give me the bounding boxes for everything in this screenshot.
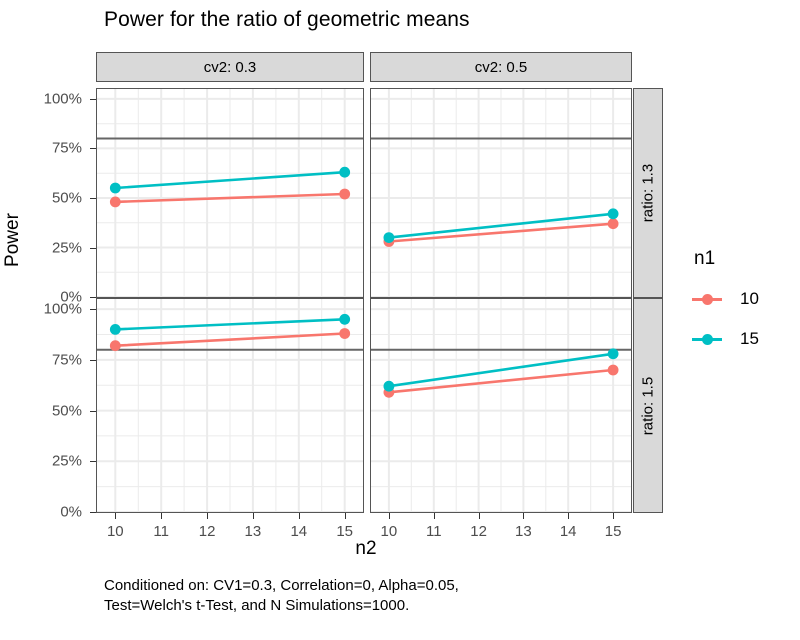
y-tick-label: 100% — [26, 90, 82, 107]
y-tick-label: 25% — [26, 239, 82, 256]
chart-figure: Power for the ratio of geometric means P… — [0, 0, 800, 640]
legend-item-label: 15 — [740, 329, 759, 349]
x-tick-label: 11 — [146, 523, 176, 540]
legend-item-15[interactable]: 15 — [692, 324, 759, 354]
x-tick-mark — [389, 513, 390, 519]
y-tick-mark — [90, 297, 96, 298]
facet-strip-col-label: cv2: 0.3 — [204, 59, 257, 76]
x-tick-label: 14 — [553, 523, 583, 540]
legend-item-label: 10 — [740, 289, 759, 309]
x-tick-mark — [479, 513, 480, 519]
y-axis-title: Power — [2, 190, 24, 290]
facet-strip-col-label: cv2: 0.5 — [475, 59, 528, 76]
panel-ratio-1-5-cv2-0-5 — [370, 298, 632, 513]
x-tick-label: 12 — [192, 523, 222, 540]
chart-title: Power for the ratio of geometric means — [104, 8, 470, 32]
x-tick-label: 15 — [598, 523, 628, 540]
y-tick-label: 50% — [26, 402, 82, 419]
x-tick-mark — [345, 513, 346, 519]
x-tick-label: 13 — [508, 523, 538, 540]
facet-strip-col-cv2-0-5: cv2: 0.5 — [370, 52, 632, 82]
x-tick-label: 10 — [100, 523, 130, 540]
panel-ratio-1-5-cv2-0-3 — [96, 298, 364, 513]
y-tick-mark — [90, 198, 96, 199]
x-tick-label: 15 — [330, 523, 360, 540]
x-tick-mark — [613, 513, 614, 519]
legend-item-10[interactable]: 10 — [692, 284, 759, 314]
facet-strip-col-cv2-0-3: cv2: 0.3 — [96, 52, 364, 82]
legend: n1 10 15 — [692, 248, 759, 364]
y-tick-mark — [90, 309, 96, 310]
x-tick-mark — [568, 513, 569, 519]
y-tick-label: 75% — [26, 140, 82, 157]
legend-key-icon — [692, 284, 722, 314]
panel-ratio-1-3-cv2-0-5 — [370, 88, 632, 298]
x-tick-mark — [115, 513, 116, 519]
x-tick-label: 12 — [464, 523, 494, 540]
facet-strip-row-label: ratio: 1.5 — [640, 376, 657, 434]
x-tick-mark — [299, 513, 300, 519]
x-tick-label: 13 — [238, 523, 268, 540]
y-tick-mark — [90, 411, 96, 412]
facet-strip-row-ratio-1-3: ratio: 1.3 — [633, 88, 663, 298]
y-tick-label: 25% — [26, 453, 82, 470]
y-tick-mark — [90, 148, 96, 149]
y-tick-label: 50% — [26, 190, 82, 207]
x-tick-label: 14 — [284, 523, 314, 540]
y-tick-mark — [90, 248, 96, 249]
y-tick-mark — [90, 99, 96, 100]
x-tick-mark — [161, 513, 162, 519]
x-tick-mark — [523, 513, 524, 519]
x-tick-mark — [253, 513, 254, 519]
x-tick-mark — [207, 513, 208, 519]
y-tick-mark — [90, 360, 96, 361]
y-tick-label: 100% — [26, 301, 82, 318]
facet-strip-row-label: ratio: 1.3 — [640, 164, 657, 222]
y-tick-label: 0% — [26, 504, 82, 521]
chart-caption: Conditioned on: CV1=0.3, Correlation=0, … — [104, 576, 459, 616]
x-tick-mark — [434, 513, 435, 519]
panel-ratio-1-3-cv2-0-3 — [96, 88, 364, 298]
x-axis-title: n2 — [96, 538, 636, 560]
facet-strip-row-ratio-1-5: ratio: 1.5 — [633, 298, 663, 513]
legend-key-icon — [692, 324, 722, 354]
x-tick-label: 11 — [419, 523, 449, 540]
y-tick-mark — [90, 512, 96, 513]
legend-title: n1 — [692, 248, 759, 270]
y-tick-label: 75% — [26, 351, 82, 368]
x-tick-label: 10 — [374, 523, 404, 540]
y-tick-mark — [90, 461, 96, 462]
